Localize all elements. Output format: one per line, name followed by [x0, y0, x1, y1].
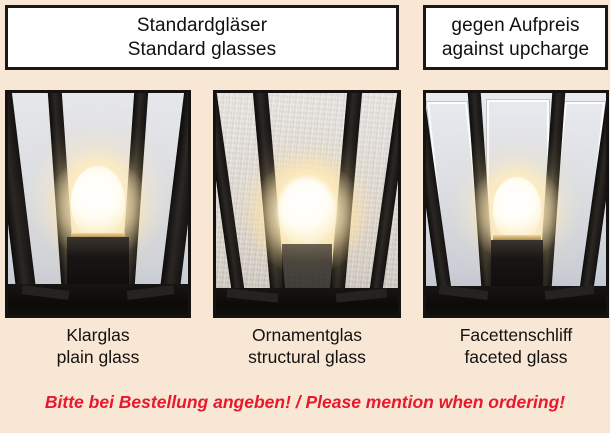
standard-glasses-label-en: Standard glasses	[128, 38, 276, 61]
clear-glass-scene	[8, 93, 188, 315]
light-bulb	[278, 177, 336, 244]
captions-row: Klarglas plain glass Ornamentglas struct…	[0, 325, 610, 383]
lantern-clear-glass-photo	[5, 90, 191, 318]
bulb-socket	[491, 240, 543, 293]
caption-structural-glass-en: structural glass	[213, 347, 401, 369]
lantern-structural-glass-photo	[213, 90, 401, 318]
caption-structural-glass-de: Ornamentglas	[213, 325, 401, 347]
caption-clear-glass-en: plain glass	[5, 347, 191, 369]
lantern-photos-row	[0, 90, 610, 320]
caption-structural-glass: Ornamentglas structural glass	[213, 325, 401, 369]
faceted-glass-scene	[426, 93, 606, 315]
structural-glass-scene	[216, 93, 398, 315]
light-bulb	[71, 166, 125, 237]
upcharge-label-de: gegen Aufpreis	[451, 14, 579, 37]
standard-glasses-box: Standardgläser Standard glasses	[5, 5, 399, 70]
upcharge-box: gegen Aufpreis against upcharge	[423, 5, 608, 70]
caption-faceted-glass: Facettenschliff faceted glass	[423, 325, 609, 369]
caption-clear-glass: Klarglas plain glass	[5, 325, 191, 369]
caption-clear-glass-de: Klarglas	[5, 325, 191, 347]
caption-faceted-glass-de: Facettenschliff	[423, 325, 609, 347]
header-boxes-row: Standardgläser Standard glasses gegen Au…	[0, 0, 610, 80]
upcharge-label-en: against upcharge	[442, 38, 589, 61]
bulb-socket	[282, 244, 333, 293]
order-note: Bitte bei Bestellung angeben! / Please m…	[0, 392, 610, 413]
standard-glasses-label-de: Standardgläser	[137, 14, 267, 37]
caption-faceted-glass-en: faceted glass	[423, 347, 609, 369]
lantern-faceted-glass-photo	[423, 90, 609, 318]
light-bulb	[493, 177, 542, 239]
